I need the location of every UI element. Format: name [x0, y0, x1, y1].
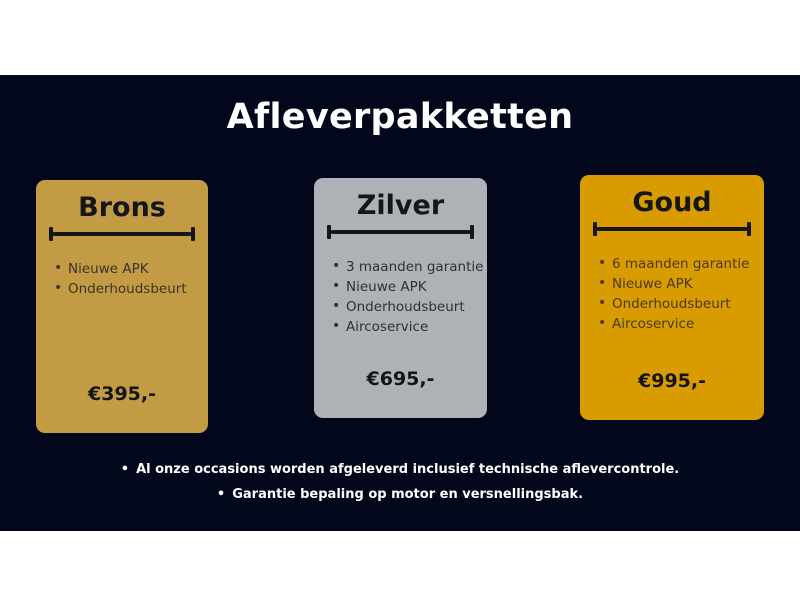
- list-item: Onderhoudsbeurt: [598, 294, 764, 314]
- divider-cap-right-icon: [191, 227, 195, 241]
- list-item: Aircoservice: [598, 314, 764, 334]
- list-item: Onderhoudsbeurt: [54, 279, 208, 299]
- footer-notes: •Al onze occasions worden afgeleverd inc…: [0, 457, 800, 507]
- package-feature-list: Nieuwe APK Onderhoudsbeurt: [36, 259, 208, 299]
- divider-bar-icon: [597, 227, 747, 231]
- package-feature-list: 6 maanden garantie Nieuwe APK Onderhouds…: [580, 254, 764, 334]
- dimension-line-divider-icon: [49, 227, 195, 241]
- promo-panel: Afleverpakketten Brons Nieuwe APK Onderh…: [0, 75, 800, 531]
- list-item: Aircoservice: [332, 317, 487, 337]
- list-item: 6 maanden garantie: [598, 254, 764, 274]
- bullet-icon: •: [217, 482, 225, 507]
- footer-note-text: Al onze occasions worden afgeleverd incl…: [136, 462, 679, 477]
- list-item: Nieuwe APK: [54, 259, 208, 279]
- package-card-zilver[interactable]: Zilver 3 maanden garantie Nieuwe APK Ond…: [314, 178, 487, 418]
- divider-bar-icon: [331, 230, 470, 234]
- dimension-line-divider-icon: [327, 225, 474, 239]
- list-item: Onderhoudsbeurt: [332, 297, 487, 317]
- list-item: 3 maanden garantie: [332, 257, 487, 277]
- package-card-goud[interactable]: Goud 6 maanden garantie Nieuwe APK Onder…: [580, 175, 764, 420]
- package-feature-list: 3 maanden garantie Nieuwe APK Onderhouds…: [314, 257, 487, 337]
- divider-bar-icon: [53, 232, 191, 236]
- package-title: Goud: [580, 175, 764, 216]
- footer-note-text: Garantie bepaling op motor en versnellin…: [232, 487, 583, 502]
- bullet-icon: •: [121, 457, 129, 482]
- footer-note: •Al onze occasions worden afgeleverd inc…: [0, 457, 800, 482]
- footer-note: •Garantie bepaling op motor en versnelli…: [0, 482, 800, 507]
- list-item: Nieuwe APK: [598, 274, 764, 294]
- package-price: €995,-: [580, 370, 764, 392]
- divider-cap-right-icon: [470, 225, 474, 239]
- package-card-brons[interactable]: Brons Nieuwe APK Onderhoudsbeurt €395,-: [36, 180, 208, 433]
- package-price: €695,-: [314, 368, 487, 390]
- list-item: Nieuwe APK: [332, 277, 487, 297]
- page-title: Afleverpakketten: [0, 100, 800, 135]
- divider-cap-right-icon: [747, 222, 751, 236]
- package-title: Brons: [36, 180, 208, 221]
- package-title: Zilver: [314, 178, 487, 219]
- dimension-line-divider-icon: [593, 222, 751, 236]
- package-price: €395,-: [36, 383, 208, 405]
